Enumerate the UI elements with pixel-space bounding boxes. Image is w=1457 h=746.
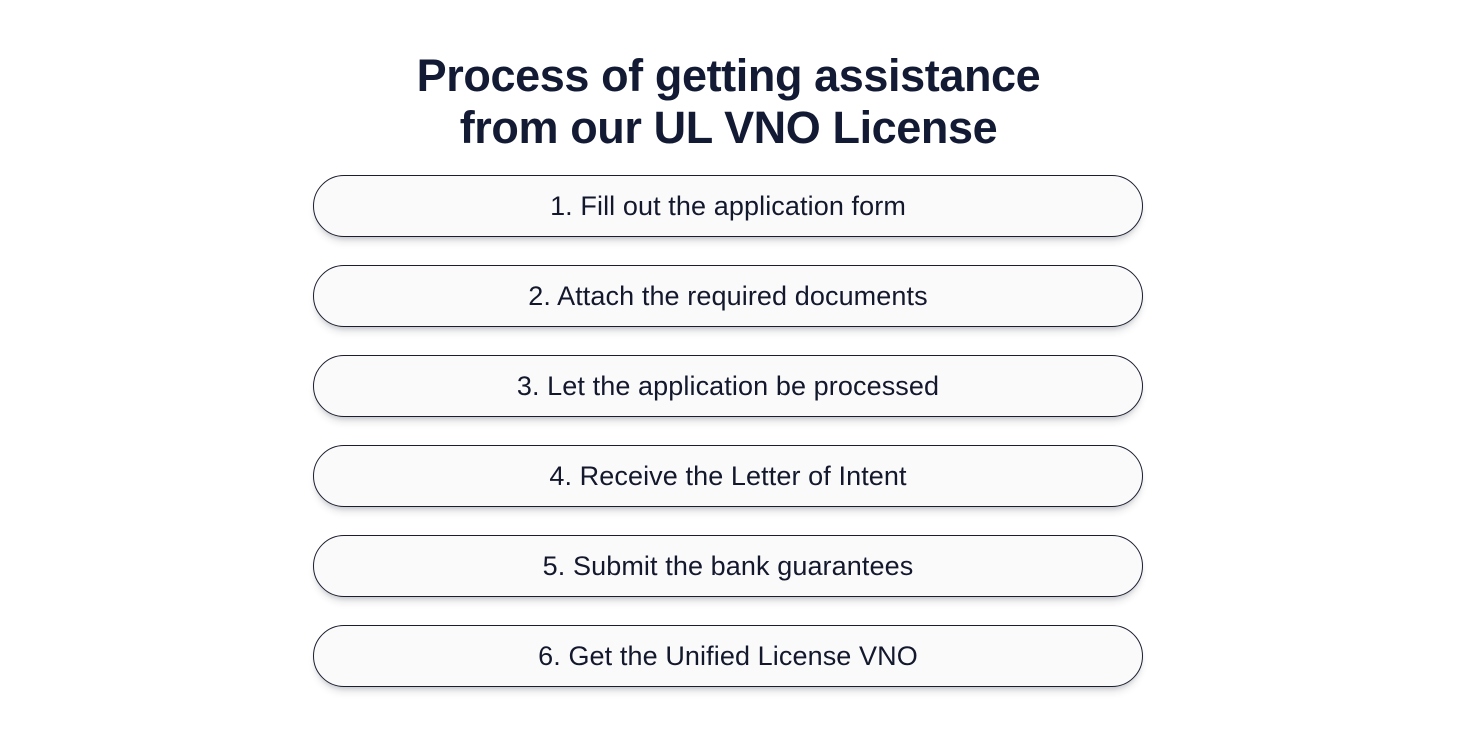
process-step-label: 5. Submit the bank guarantees [543,551,914,581]
process-steps-list: 1. Fill out the application form 2. Atta… [313,175,1143,687]
process-step-5: 5. Submit the bank guarantees [313,535,1143,597]
process-step-4: 4. Receive the Letter of Intent [313,445,1143,507]
process-step-6: 6. Get the Unified License VNO [313,625,1143,687]
page-title-line-2: from our UL VNO License [0,102,1457,154]
process-step-label: 3. Let the application be processed [517,371,939,401]
process-step-label: 4. Receive the Letter of Intent [549,461,906,491]
process-step-label: 1. Fill out the application form [550,191,906,221]
process-step-label: 2. Attach the required documents [528,281,927,311]
page-title-line-1: Process of getting assistance [0,50,1457,102]
process-step-3: 3. Let the application be processed [313,355,1143,417]
process-step-1: 1. Fill out the application form [313,175,1143,237]
process-step-2: 2. Attach the required documents [313,265,1143,327]
process-step-label: 6. Get the Unified License VNO [538,641,918,671]
process-infographic: Process of getting assistance from our U… [0,0,1457,746]
page-title: Process of getting assistance from our U… [0,50,1457,154]
